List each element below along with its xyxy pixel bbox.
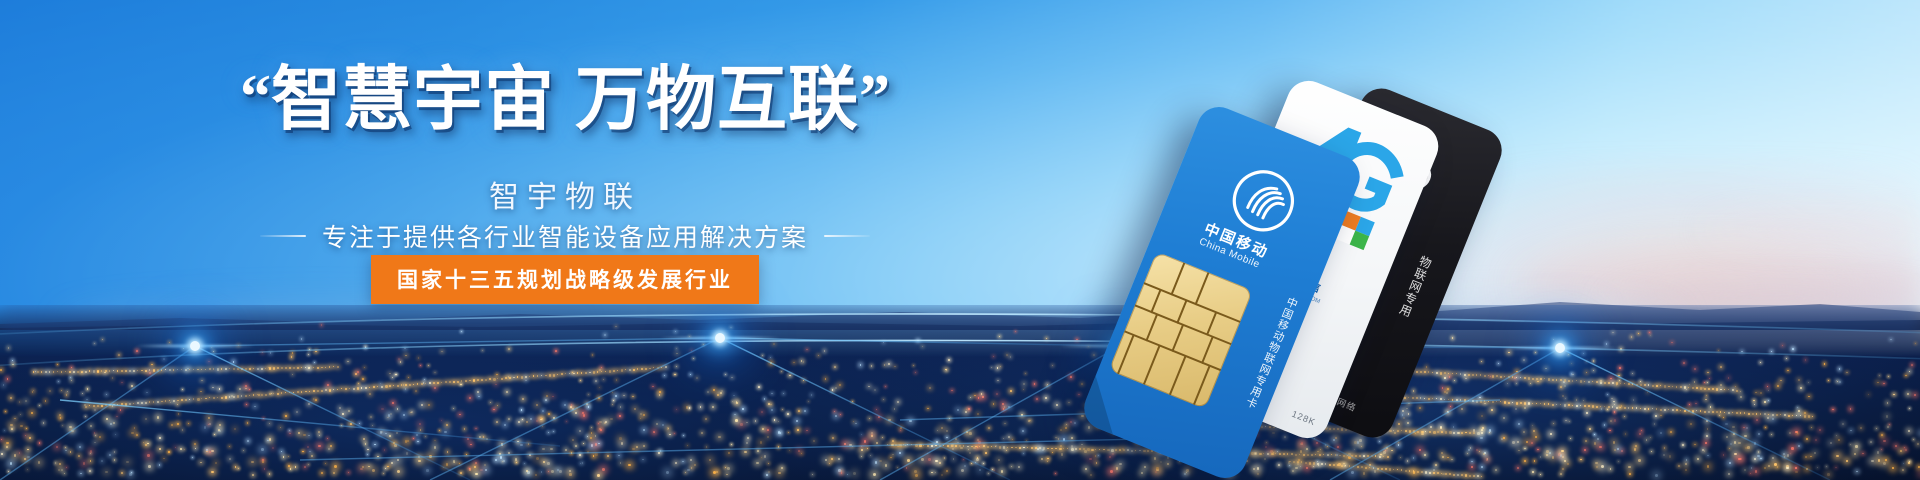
city-lights [0, 305, 1920, 480]
headline-part-2: 万物互联 [575, 64, 859, 134]
tagline-row: 专注于提供各行业智能设备应用解决方案 [0, 218, 1130, 254]
open-quote-glyph: “ [240, 66, 271, 128]
unicom-side-text: 物联网专用 [1395, 253, 1435, 320]
headline: “智慧宇宙万物互联” [0, 64, 1130, 134]
rule-right [824, 235, 870, 237]
tagline: 专注于提供各行业智能设备应用解决方案 [322, 218, 808, 254]
night-city-skyline-icon [0, 305, 1920, 480]
hero-banner: China Unicom 物联网专用 专用子电户通信网络 [0, 0, 1920, 480]
telecom-capacity: 128K [1290, 409, 1317, 428]
rule-left [260, 235, 306, 237]
status-badge[interactable]: 国家十三五规划战略级发展行业 [371, 255, 759, 304]
headline-part-1: 智慧宇宙 [271, 64, 555, 134]
brand-subtitle: 智宇物联 [0, 172, 1130, 216]
close-quote-glyph: ” [859, 66, 890, 128]
